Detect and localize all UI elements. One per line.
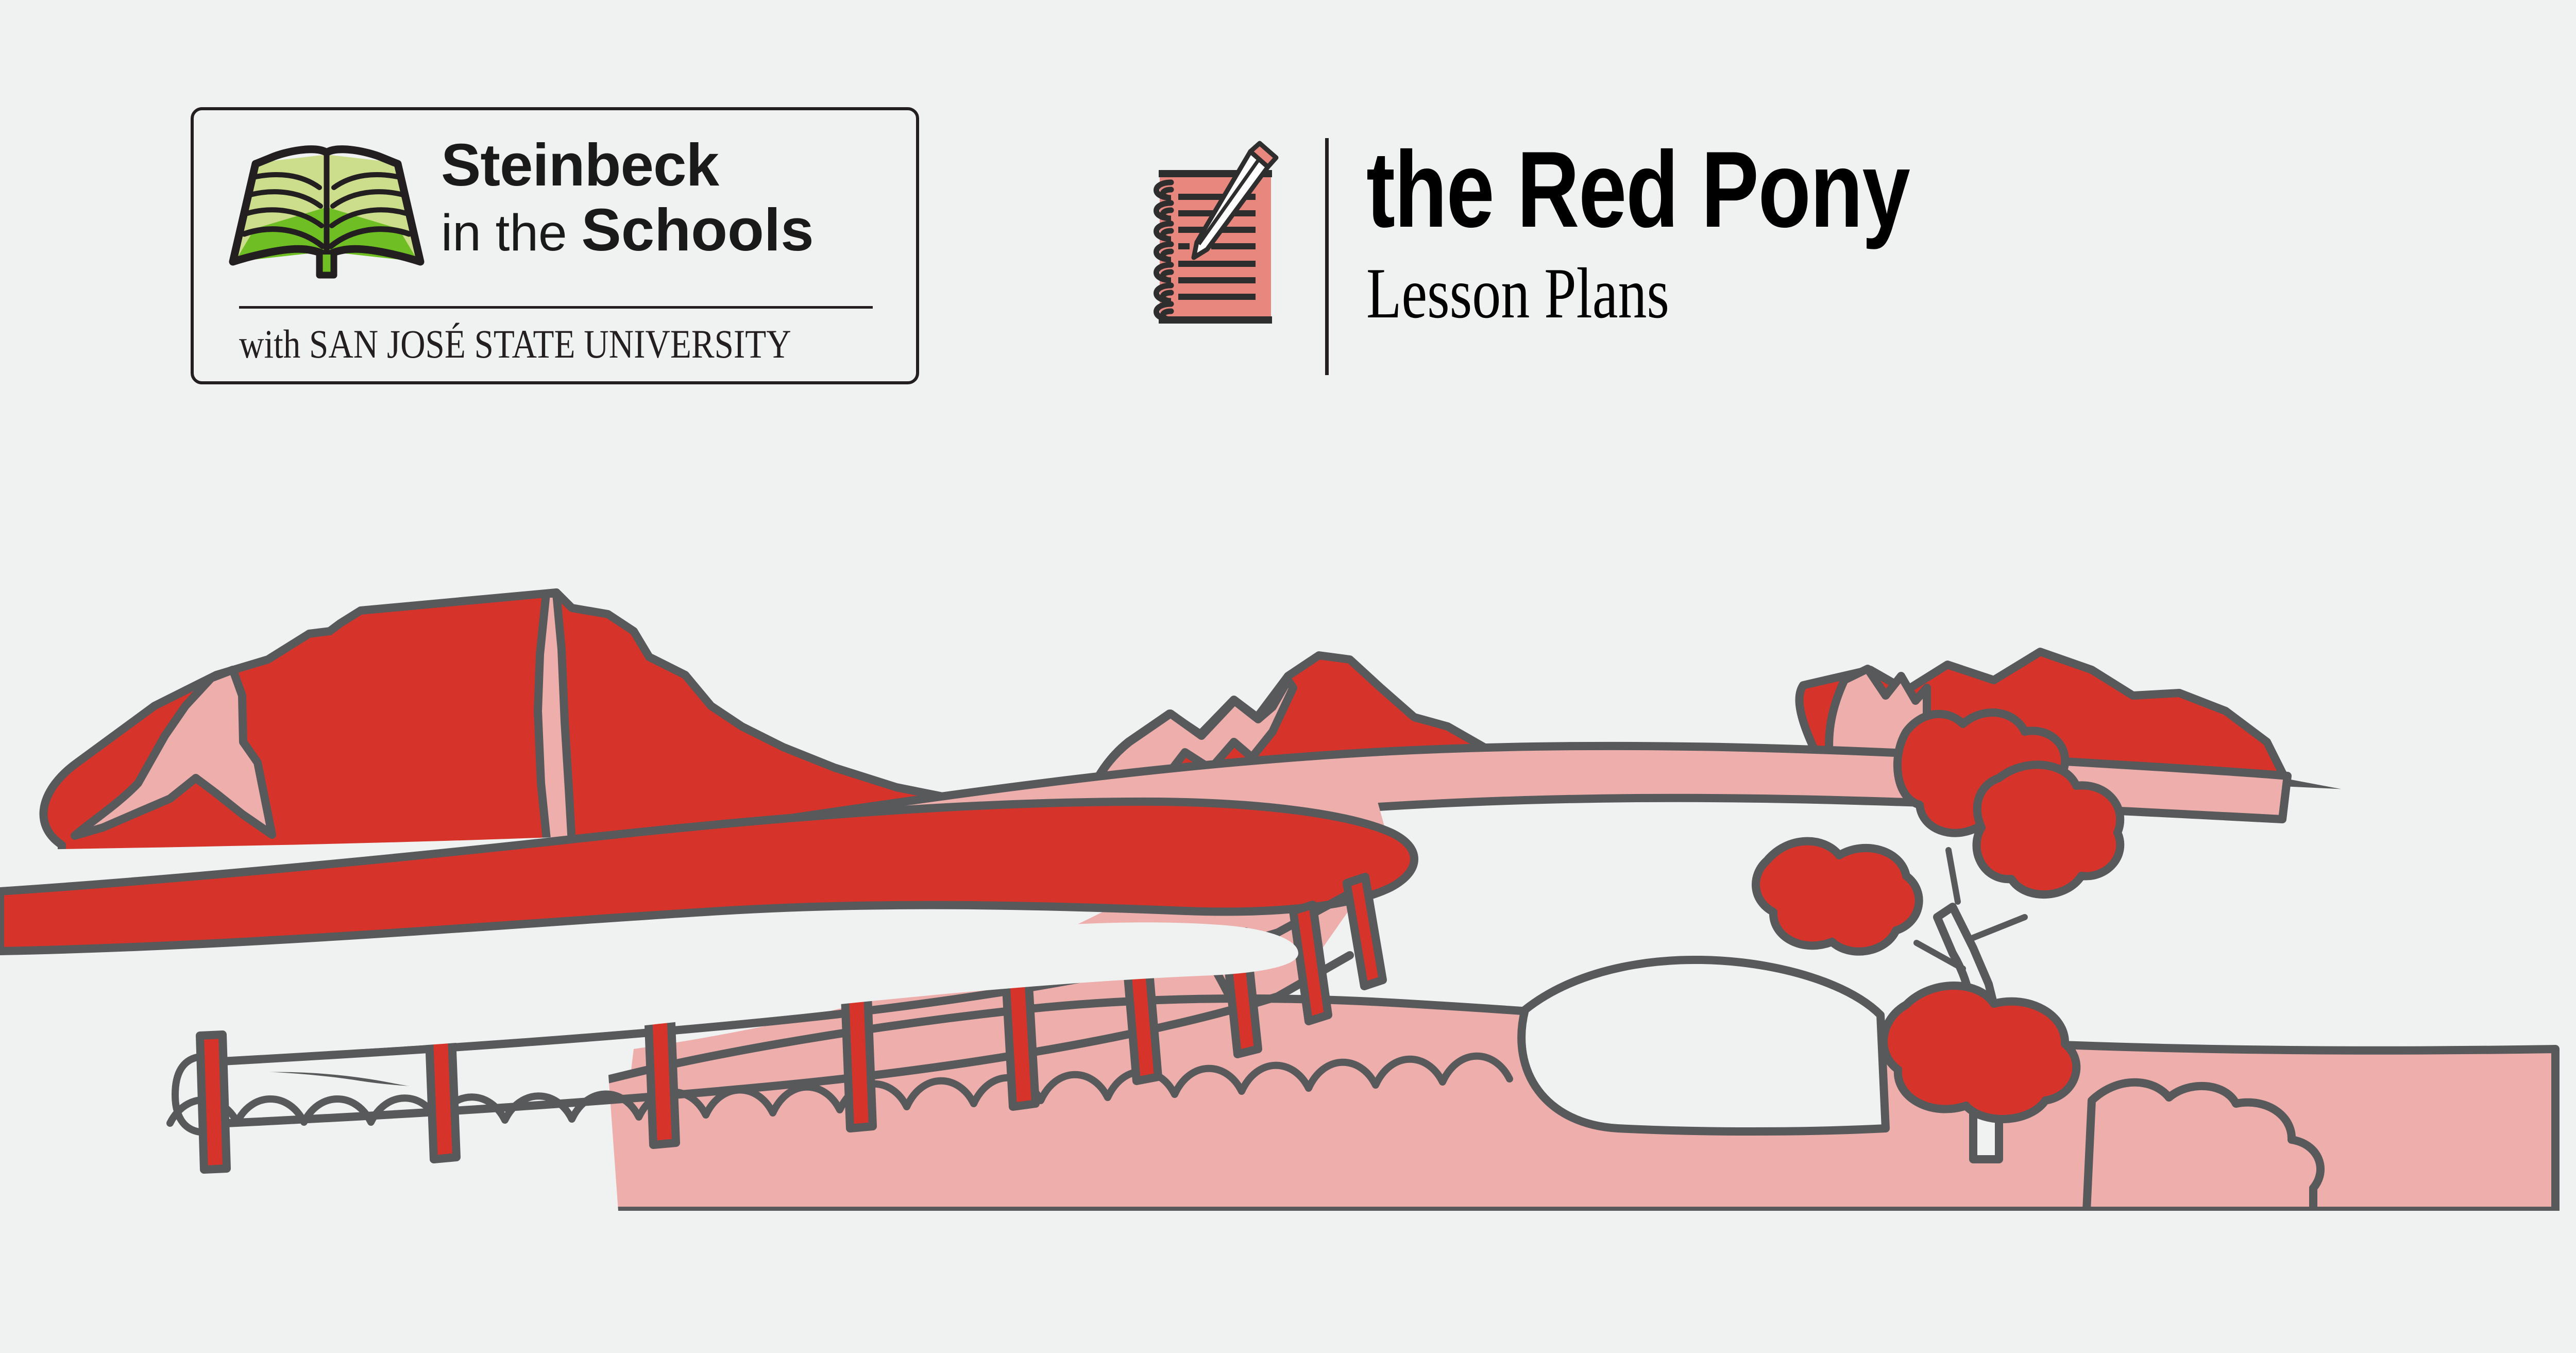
logo-wordmark-line2-bold: Schools [581, 196, 814, 263]
tree-under-cove [1521, 960, 1886, 1131]
logo-divider-rule [239, 306, 873, 309]
fence-post [1006, 976, 1036, 1107]
fence-post [845, 994, 873, 1128]
fence-post [200, 1035, 227, 1170]
logo-wordmark-line2: in the Schools [441, 198, 894, 265]
title-block: the Red Pony Lesson Plans [1366, 134, 2500, 333]
page-subtitle: Lesson Plans [1366, 255, 2273, 333]
logo-tagline-prefix: with [239, 322, 309, 366]
tree-foliage-right [1977, 765, 2121, 894]
steinbeck-logo-box[interactable]: Steinbeck in the Schools with SAN JOSÉ S… [191, 107, 919, 384]
logo-wordmark-line1: Steinbeck [441, 132, 894, 198]
tree-foliage-lower [1884, 986, 2076, 1119]
logo-wordmark: Steinbeck in the Schools [441, 132, 894, 286]
banner-canvas: Steinbeck in the Schools with SAN JOSÉ S… [0, 0, 2576, 1353]
fence-post [648, 1011, 676, 1145]
red-hills-landscape-illustration [0, 489, 2576, 1211]
left-white-cove [82, 1069, 618, 1211]
banner-header: Steinbeck in the Schools with SAN JOSÉ S… [0, 0, 2576, 392]
notepad-pencil-icon [1131, 140, 1280, 336]
tree-foliage-left [1756, 841, 1919, 952]
title-divider [1325, 138, 1329, 375]
logo-wordmark-line2-light: in the [441, 204, 581, 262]
logo-top-row: Steinbeck in the Schools [194, 110, 916, 292]
page-title: the Red Pony [1366, 134, 2273, 245]
logo-tagline: with SAN JOSÉ STATE UNIVERSITY [239, 318, 788, 370]
open-book-icon [224, 140, 430, 279]
logo-tagline-institution: SAN JOSÉ STATE UNIVERSITY [309, 322, 791, 366]
